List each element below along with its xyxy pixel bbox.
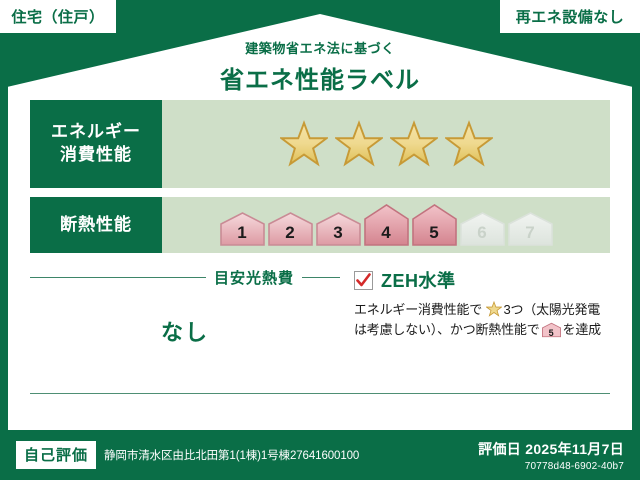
insulation-chip: 7 <box>508 212 553 246</box>
energy-label-card: 住宅（住戸） 再エネ設備なし 建築物省エネ法に基づく 省エネ性能ラベル エネルギ… <box>0 0 640 480</box>
utility-cost-section: 目安光熱費 なし <box>30 267 340 347</box>
self-evaluation-badge: 自己評価 <box>16 441 96 469</box>
insulation-chip-value: 3 <box>316 223 361 243</box>
zeh-section: ZEH水準 エネルギー消費性能で 3つ（太陽光発電は考慮しない）、かつ断熱性能で… <box>340 267 610 347</box>
utility-cost-heading-text: 目安光熱費 <box>214 267 294 288</box>
insulation-chip: 1 <box>220 212 265 246</box>
insulation-chip-value: 6 <box>460 223 505 243</box>
star-icon <box>390 120 438 168</box>
tag-building-type: 住宅（住戸） <box>0 0 116 33</box>
star-icon <box>486 301 502 317</box>
insulation-chip-value: 7 <box>508 223 553 243</box>
divider <box>302 277 340 278</box>
energy-performance-label-line1: エネルギー <box>51 121 141 144</box>
zeh-description-chip-value: 5 <box>542 329 561 338</box>
insulation-chip: 4 <box>364 204 409 246</box>
insulation-chip: 2 <box>268 212 313 246</box>
star-icon <box>445 120 493 168</box>
star-icon <box>280 120 328 168</box>
insulation-performance-row: 断熱性能 <box>30 197 610 253</box>
zeh-description-part3: を達成 <box>563 322 601 337</box>
divider <box>30 393 610 394</box>
divider <box>30 277 206 278</box>
zeh-description-chip: 5 <box>542 322 561 338</box>
zeh-heading: ZEH水準 <box>354 267 610 293</box>
insulation-performance-body: 1 2 3 <box>162 197 610 253</box>
insulation-chip: 3 <box>316 212 361 246</box>
star-icon <box>335 120 383 168</box>
insulation-chip-value: 1 <box>220 223 265 243</box>
insulation-chip-value: 2 <box>268 223 313 243</box>
zeh-title: ZEH水準 <box>381 267 456 293</box>
energy-performance-label-line2: 消費性能 <box>60 144 132 167</box>
insulation-chip: 6 <box>460 212 505 246</box>
check-icon <box>356 273 371 288</box>
evaluation-date: 評価日 2025年11月7日 <box>478 439 624 459</box>
evaluation-id: 70778d48-6902-40b7 <box>478 461 624 472</box>
insulation-performance-label-text: 断熱性能 <box>60 214 132 237</box>
title-main: 省エネ性能ラベル <box>0 60 640 95</box>
utility-cost-heading: 目安光熱費 <box>30 267 340 288</box>
footer-bar: 自己評価 静岡市清水区由比北田第1(1棟)1号棟27641600100 評価日 … <box>0 430 640 480</box>
zeh-checkbox[interactable] <box>354 271 373 290</box>
property-address: 静岡市清水区由比北田第1(1棟)1号棟27641600100 <box>104 447 359 463</box>
footer-left: 自己評価 静岡市清水区由比北田第1(1棟)1号棟27641600100 <box>0 441 478 469</box>
page-title: 建築物省エネ法に基づく 省エネ性能ラベル <box>0 38 640 95</box>
lower-section: 目安光熱費 なし ZEH水準 エネルギー消費性能で <box>30 267 610 347</box>
tag-renewable-energy-label: 再エネ設備なし <box>516 6 625 27</box>
tag-building-type-label: 住宅（住戸） <box>11 6 104 27</box>
zeh-description: エネルギー消費性能で 3つ（太陽光発電は考慮しない）、かつ断熱性能で 5 を達成 <box>354 300 610 340</box>
insulation-scale: 1 2 3 <box>220 204 553 246</box>
zeh-description-part1: エネルギー消費性能で <box>354 302 482 317</box>
insulation-chip: 5 <box>412 204 457 246</box>
insulation-performance-label: 断熱性能 <box>30 197 162 253</box>
energy-performance-body <box>162 100 610 188</box>
energy-performance-row: エネルギー 消費性能 <box>30 100 610 188</box>
energy-performance-label: エネルギー 消費性能 <box>30 100 162 188</box>
star-rating <box>280 120 493 168</box>
footer-right: 評価日 2025年11月7日 70778d48-6902-40b7 <box>478 439 640 472</box>
insulation-chip-value: 4 <box>364 223 409 243</box>
utility-cost-value: なし <box>30 315 340 347</box>
label-content: エネルギー 消費性能 <box>30 100 610 347</box>
insulation-chip-value: 5 <box>412 223 457 243</box>
title-subtitle: 建築物省エネ法に基づく <box>0 38 640 57</box>
tag-renewable-energy: 再エネ設備なし <box>500 0 640 33</box>
